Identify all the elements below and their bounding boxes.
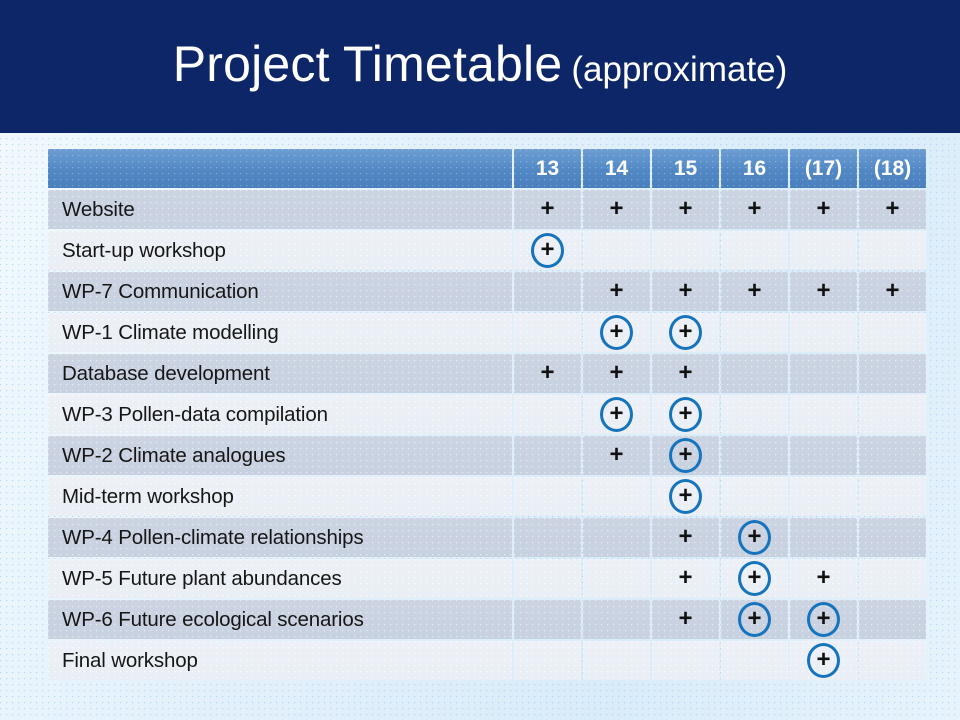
schedule-cell [790,436,857,475]
activity-mark: + [816,197,830,221]
activity-mark: + [747,566,761,590]
schedule-cell [859,559,926,598]
schedule-cell: + [721,600,788,639]
header-cell-year-15: 15 [652,149,719,188]
schedule-cell: + [721,518,788,557]
schedule-cell [859,231,926,270]
schedule-cell [514,641,581,680]
table-row: Final workshop+ [48,641,926,680]
schedule-cell [721,231,788,270]
schedule-cell [583,641,650,680]
schedule-cell [721,395,788,434]
activity-mark: + [678,279,692,303]
activity-mark: + [678,566,692,590]
task-label: Mid-term workshop [48,477,512,516]
schedule-cell [859,395,926,434]
schedule-cell: + [514,354,581,393]
activity-mark: + [678,607,692,631]
timetable-container: 13 14 15 16 (17) (18) Website++++++Start… [46,147,914,682]
schedule-cell: + [790,641,857,680]
schedule-cell [514,395,581,434]
header-cell-task [48,149,512,188]
schedule-cell [790,518,857,557]
page-title-main: Project Timetable [173,36,563,92]
schedule-cell [514,518,581,557]
schedule-cell [514,436,581,475]
title-banner: Project Timetable(approximate) [0,0,960,133]
activity-mark: + [816,566,830,590]
schedule-cell [790,395,857,434]
activity-mark: + [678,484,692,508]
schedule-cell: + [721,559,788,598]
activity-mark: + [609,402,623,426]
schedule-cell: + [652,272,719,311]
schedule-cell: + [583,272,650,311]
schedule-cell [721,354,788,393]
activity-mark: + [540,361,554,385]
schedule-cell: + [652,190,719,229]
slide-root: Project Timetable(approximate) 13 14 15 … [0,0,960,720]
activity-mark: + [609,361,623,385]
table-row: Website++++++ [48,190,926,229]
activity-mark: + [540,238,554,262]
schedule-cell [790,477,857,516]
activity-mark: + [747,197,761,221]
activity-mark: + [747,607,761,631]
schedule-cell [859,436,926,475]
task-label: WP-5 Future plant abundances [48,559,512,598]
table-body: Website++++++Start-up workshop+WP-7 Comm… [48,190,926,680]
schedule-cell [514,559,581,598]
schedule-cell [721,313,788,352]
schedule-cell [721,641,788,680]
schedule-cell [790,354,857,393]
table-row: WP-1 Climate modelling++ [48,313,926,352]
header-cell-year-16: 16 [721,149,788,188]
schedule-cell: + [514,231,581,270]
task-label: Final workshop [48,641,512,680]
activity-mark: + [540,197,554,221]
table-row: WP-2 Climate analogues++ [48,436,926,475]
schedule-cell: + [652,477,719,516]
schedule-cell: + [790,272,857,311]
schedule-cell [721,436,788,475]
table-row: WP-3 Pollen-data compilation++ [48,395,926,434]
schedule-cell [790,231,857,270]
schedule-cell [790,313,857,352]
schedule-cell: + [859,272,926,311]
task-label: Database development [48,354,512,393]
schedule-cell: + [514,190,581,229]
task-label: Start-up workshop [48,231,512,270]
activity-mark: + [609,197,623,221]
activity-mark: + [747,279,761,303]
schedule-cell [583,600,650,639]
schedule-cell [583,559,650,598]
table-row: WP-7 Communication+++++ [48,272,926,311]
schedule-cell [514,477,581,516]
schedule-cell: + [721,190,788,229]
schedule-cell [859,600,926,639]
table-row: WP-4 Pollen-climate relationships++ [48,518,926,557]
schedule-cell [859,354,926,393]
activity-mark: + [885,197,899,221]
schedule-cell [859,477,926,516]
header-cell-year-14: 14 [583,149,650,188]
task-label: WP-6 Future ecological scenarios [48,600,512,639]
table-row: WP-5 Future plant abundances+++ [48,559,926,598]
activity-mark: + [678,402,692,426]
schedule-cell [583,518,650,557]
task-label: WP-4 Pollen-climate relationships [48,518,512,557]
project-timetable: 13 14 15 16 (17) (18) Website++++++Start… [46,147,928,682]
schedule-cell [514,600,581,639]
task-label: WP-3 Pollen-data compilation [48,395,512,434]
schedule-cell: + [790,190,857,229]
activity-mark: + [816,648,830,672]
header-cell-year-18: (18) [859,149,926,188]
schedule-cell [583,231,650,270]
schedule-cell: + [790,600,857,639]
activity-mark: + [885,279,899,303]
schedule-cell: + [583,313,650,352]
schedule-cell: + [652,436,719,475]
table-row: Mid-term workshop+ [48,477,926,516]
table-header: 13 14 15 16 (17) (18) [48,149,926,188]
task-label: WP-7 Communication [48,272,512,311]
title-banner-inner: Project Timetable(approximate) [0,0,960,133]
task-label: WP-1 Climate modelling [48,313,512,352]
schedule-cell: + [652,354,719,393]
task-label: WP-2 Climate analogues [48,436,512,475]
schedule-cell: + [790,559,857,598]
schedule-cell: + [859,190,926,229]
table-row: Database development+++ [48,354,926,393]
schedule-cell [652,231,719,270]
schedule-cell: + [721,272,788,311]
activity-mark: + [678,525,692,549]
schedule-cell: + [652,313,719,352]
table-header-row: 13 14 15 16 (17) (18) [48,149,926,188]
activity-mark: + [678,443,692,467]
schedule-cell: + [583,436,650,475]
table-row: Start-up workshop+ [48,231,926,270]
activity-mark: + [609,320,623,344]
schedule-cell: + [583,354,650,393]
schedule-cell: + [583,190,650,229]
activity-mark: + [609,443,623,467]
activity-mark: + [816,607,830,631]
schedule-cell [859,518,926,557]
schedule-cell: + [583,395,650,434]
schedule-cell: + [652,559,719,598]
schedule-cell: + [652,600,719,639]
activity-mark: + [816,279,830,303]
table-row: WP-6 Future ecological scenarios+++ [48,600,926,639]
header-cell-year-13: 13 [514,149,581,188]
page-title: Project Timetable(approximate) [173,39,788,89]
schedule-cell [514,313,581,352]
activity-mark: + [609,279,623,303]
activity-mark: + [747,525,761,549]
schedule-cell [652,641,719,680]
activity-mark: + [678,320,692,344]
schedule-cell [859,313,926,352]
header-cell-year-17: (17) [790,149,857,188]
schedule-cell: + [652,518,719,557]
schedule-cell [514,272,581,311]
schedule-cell [583,477,650,516]
activity-mark: + [678,361,692,385]
schedule-cell [721,477,788,516]
schedule-cell: + [652,395,719,434]
schedule-cell [859,641,926,680]
page-title-qualifier: (approximate) [571,50,787,89]
task-label: Website [48,190,512,229]
activity-mark: + [678,197,692,221]
